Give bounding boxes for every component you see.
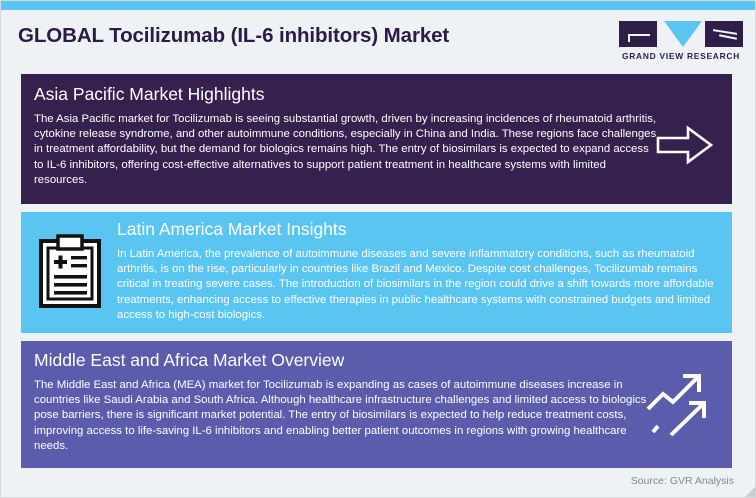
brand-logo: GRAND VIEW RESEARCH xyxy=(619,21,743,65)
panel-latin-america-icon-wrap xyxy=(39,234,101,313)
panel-asia-pacific-title: Asia Pacific Market Highlights xyxy=(34,85,265,104)
top-accent-bar xyxy=(1,1,756,10)
infographic-canvas: GLOBAL Tocilizumab (IL-6 inhibitors) Mar… xyxy=(0,0,756,498)
panel-asia-pacific: Asia Pacific Market Highlights The Asia … xyxy=(21,74,732,204)
panel-latin-america: Latin America Market Insights In Latin A… xyxy=(21,212,732,333)
clipboard-medical-icon xyxy=(39,234,101,308)
arrow-right-icon xyxy=(655,123,715,167)
panel-latin-america-title: Latin America Market Insights xyxy=(117,220,347,239)
panel-middle-east-africa: Middle East and Africa Market Overview T… xyxy=(21,341,732,468)
page-title: GLOBAL Tocilizumab (IL-6 inhibitors) Mar… xyxy=(18,24,449,48)
panel-middle-east-africa-body: The Middle East and Africa (MEA) market … xyxy=(34,378,656,454)
growth-arrows-icon xyxy=(644,369,714,441)
logo-g-icon xyxy=(619,21,657,47)
logo-wordmark: GRAND VIEW RESEARCH xyxy=(619,51,743,61)
source-note: Source: GVR Analysis xyxy=(631,475,734,487)
page-fold-corner xyxy=(745,487,755,497)
logo-r-icon xyxy=(705,21,743,47)
logo-v-icon xyxy=(664,21,702,47)
logo-marks xyxy=(619,21,743,47)
panel-asia-pacific-body: The Asia Pacific market for Tocilizumab … xyxy=(34,112,658,188)
panel-middle-east-africa-title: Middle East and Africa Market Overview xyxy=(34,351,344,370)
panel-latin-america-body: In Latin America, the prevalence of auto… xyxy=(117,247,717,323)
header: GLOBAL Tocilizumab (IL-6 inhibitors) Mar… xyxy=(1,10,756,73)
